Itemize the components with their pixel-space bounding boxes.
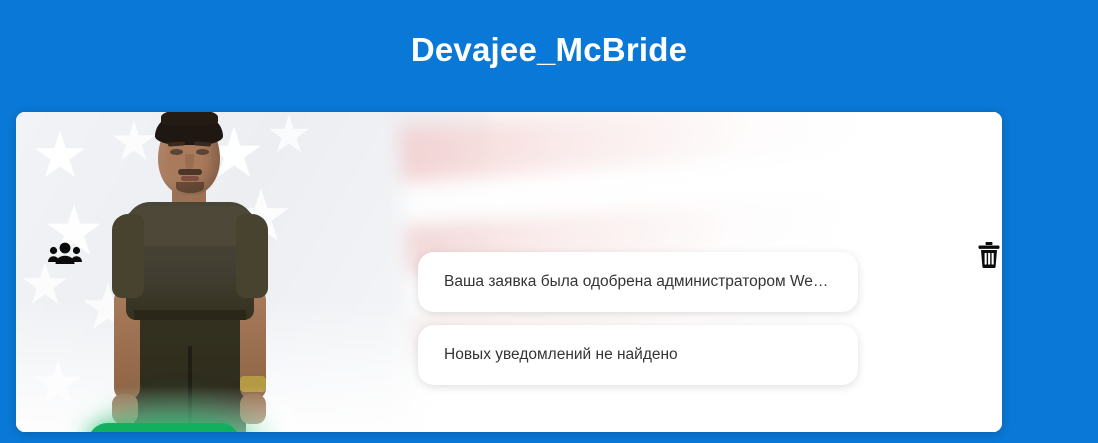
character-avatar xyxy=(84,112,294,432)
status-badge: Одобрен xyxy=(88,423,240,432)
notification-text: Новых уведомлений не найдено xyxy=(444,346,678,364)
profile-card: Одобрен Ваша заявка была одобрена админи… xyxy=(16,112,1002,432)
notification-item[interactable]: Ваша заявка была одобрена администраторо… xyxy=(418,252,858,312)
users-icon[interactable] xyxy=(48,240,82,266)
notification-text: Ваша заявка была одобрена администраторо… xyxy=(444,273,828,291)
notification-item[interactable]: Новых уведомлений не найдено xyxy=(418,325,858,385)
trash-icon[interactable] xyxy=(976,240,1002,270)
notification-list: Ваша заявка была одобрена администраторо… xyxy=(418,252,858,398)
page-title: Devajee_McBride xyxy=(0,28,1098,72)
